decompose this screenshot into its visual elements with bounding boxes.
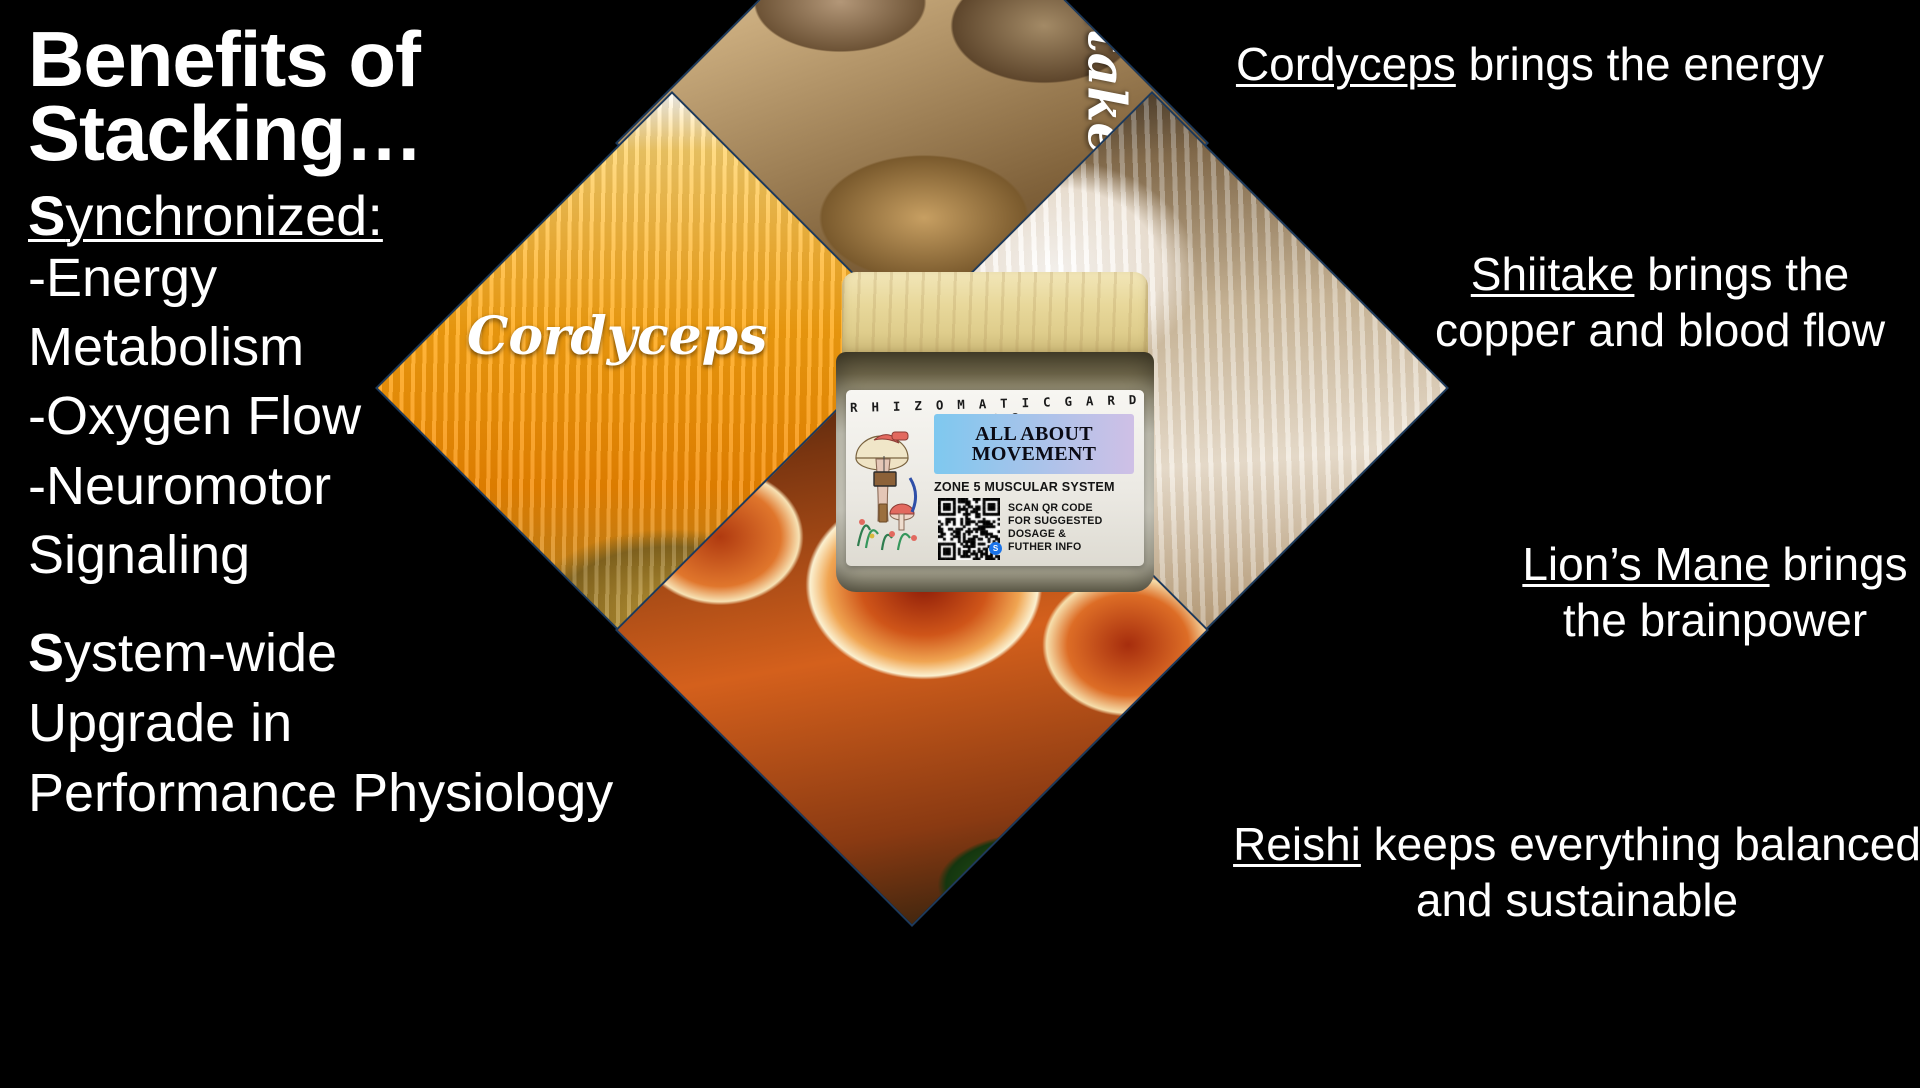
benefit-cordyceps-rest: brings the energy — [1456, 38, 1824, 90]
benefit-reishi-name: Reishi — [1233, 818, 1361, 870]
product-name-banner: ALL ABOUT MOVEMENT — [934, 414, 1134, 474]
jar-wooden-lid — [842, 272, 1148, 358]
zone-subtitle: ZONE 5 MUSCULAR SYSTEM — [934, 480, 1134, 494]
qr-badge-icon: S — [989, 542, 1002, 555]
closing-cap: S — [28, 623, 64, 683]
qr-note-line-1: SCAN QR CODE — [1008, 502, 1134, 515]
benefit-lionsmane-name: Lion’s Mane — [1522, 538, 1769, 590]
benefit-shiitake-name: Shiitake — [1471, 248, 1635, 300]
benefit-reishi: Reishi keeps everything balanced and sus… — [1232, 816, 1920, 928]
qr-note-line-2: FOR SUGGESTED — [1008, 515, 1134, 528]
closing-line-1-rest: ystem-wide — [64, 623, 337, 683]
benefit-shiitake: Shiitake brings the copper and blood flo… — [1400, 246, 1920, 358]
benefit-cordyceps-name: Cordyceps — [1236, 38, 1456, 90]
benefit-reishi-rest: keeps everything balanced and sustainabl… — [1361, 818, 1920, 926]
mushroom-illustration-icon — [852, 414, 926, 554]
product-jar: R H I Z O M A T I C G A R D E N S — [836, 272, 1154, 594]
jar-label: R H I Z O M A T I C G A R D E N S — [846, 390, 1144, 566]
banner-line-2: MOVEMENT — [972, 444, 1097, 464]
synchronized-rest: ynchronized: — [65, 184, 383, 247]
synchronized-cap: S — [28, 184, 65, 247]
benefit-lionsmane: Lion’s Mane brings the brainpower — [1510, 536, 1920, 648]
qr-instructions: SCAN QR CODE FOR SUGGESTED DOSAGE & FUTH… — [1008, 502, 1134, 555]
diamond-label-cordyceps: Cordyceps — [467, 306, 767, 367]
benefit-cordyceps: Cordyceps brings the energy — [1180, 36, 1880, 92]
banner-line-1: ALL ABOUT — [975, 424, 1093, 444]
qr-note-line-3: DOSAGE & — [1008, 528, 1134, 541]
qr-note-line-4: FUTHER INFO — [1008, 541, 1134, 554]
